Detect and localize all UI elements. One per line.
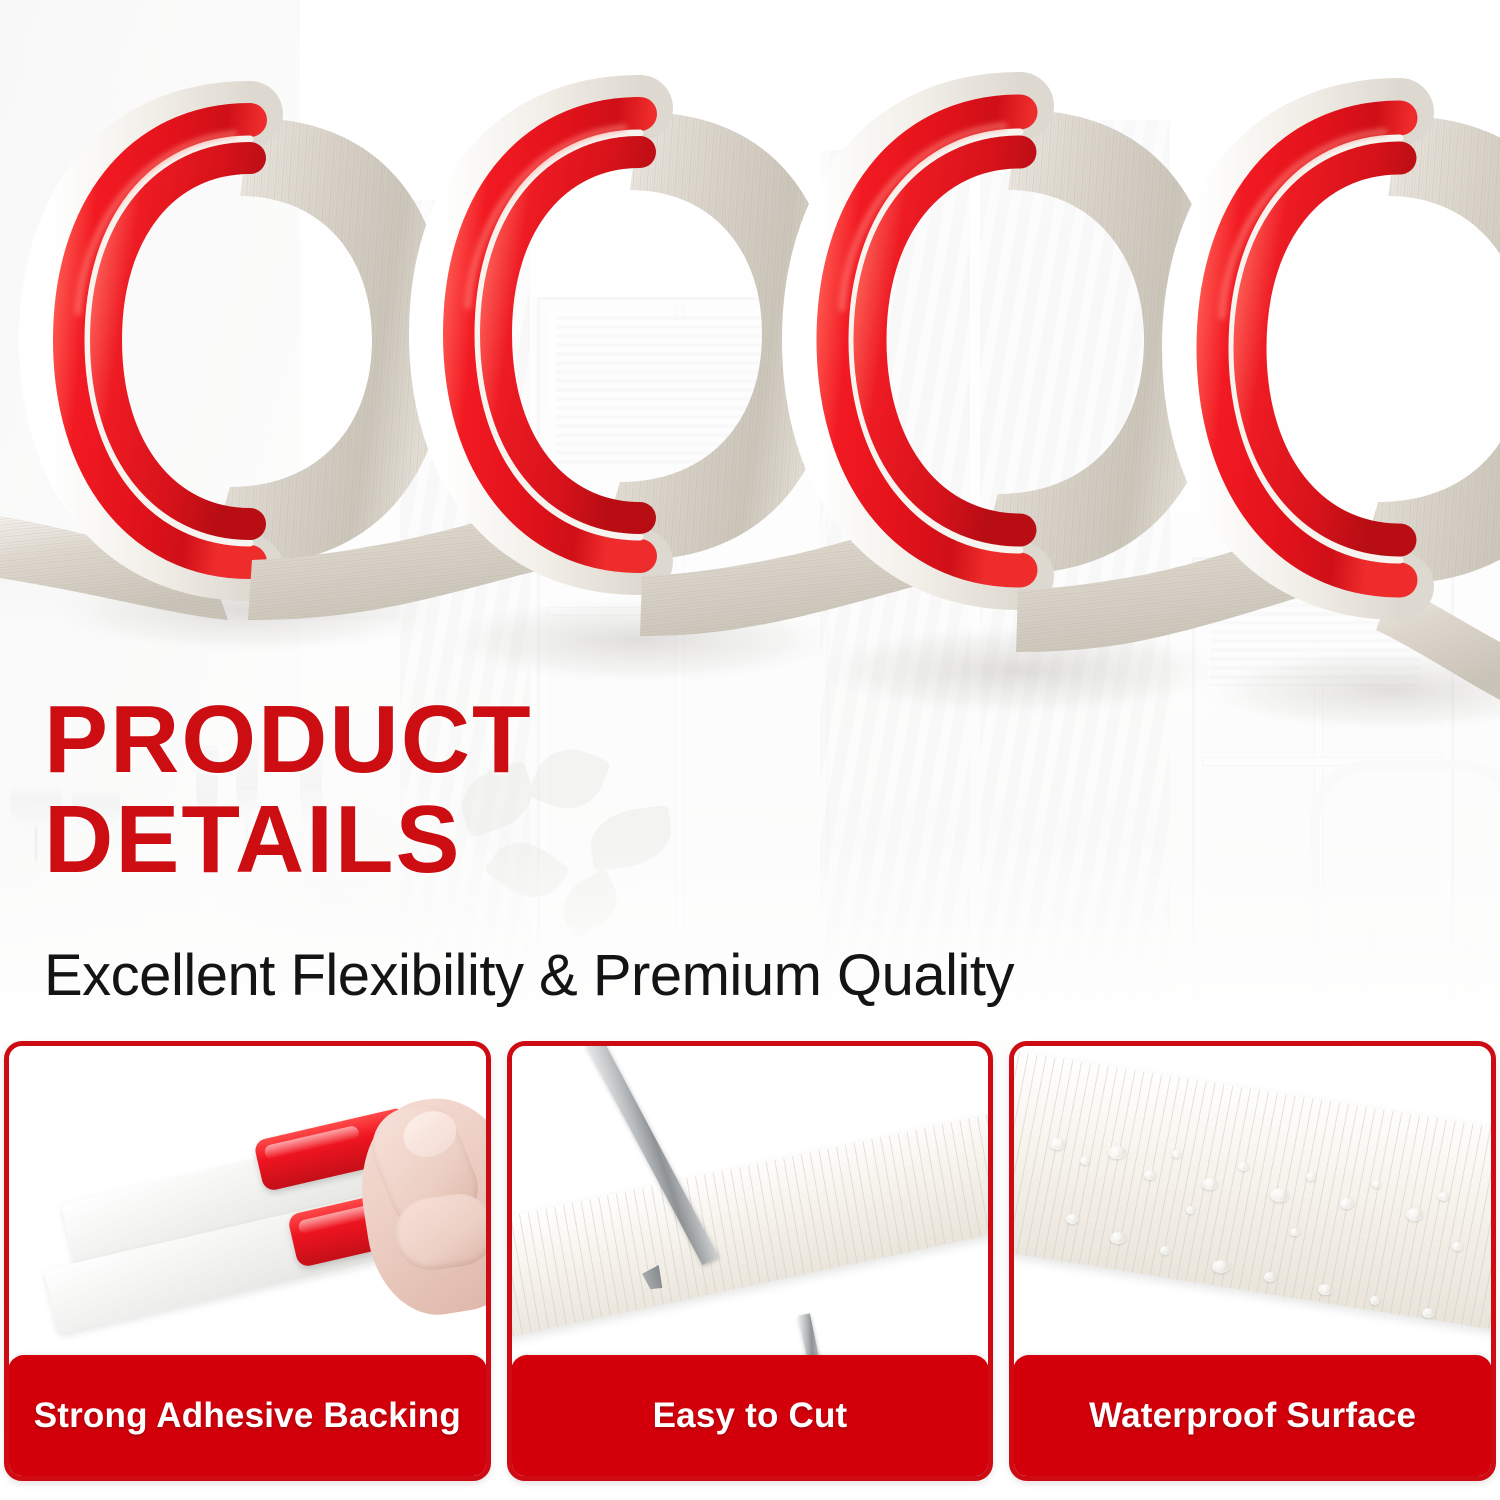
feature-photo-cut <box>512 1046 989 1358</box>
feature-caption-text: Easy to Cut <box>653 1396 848 1436</box>
feature-card-list: Strong Adhesive Backing Easy to Cut <box>0 1041 1500 1481</box>
page-title: PRODUCT DETAILS <box>44 690 1244 890</box>
feature-card-cut[interactable]: Easy to Cut <box>507 1041 994 1481</box>
feature-photo-adhesive <box>9 1046 486 1358</box>
feature-card-waterproof[interactable]: Waterproof Surface <box>1009 1041 1496 1481</box>
feature-caption-bar-adhesive: Strong Adhesive Backing <box>8 1355 487 1477</box>
feature-photo-waterproof <box>1014 1046 1491 1358</box>
coil-illustration <box>0 0 1500 760</box>
feature-caption-bar-waterproof: Waterproof Surface <box>1013 1355 1492 1477</box>
coil-loop-1 <box>0 114 448 620</box>
scissor-blade-lower <box>798 1313 822 1358</box>
product-detail-infographic: PRODUCT DETAILS Excellent Flexibility & … <box>0 0 1500 1500</box>
page-subtitle: Excellent Flexibility & Premium Quality <box>44 940 1014 1012</box>
feature-caption-text: Waterproof Surface <box>1089 1396 1416 1436</box>
banding-strip <box>1014 1046 1491 1337</box>
page-title-line-1: PRODUCT <box>44 690 1244 790</box>
feature-caption-bar-cut: Easy to Cut <box>511 1355 990 1477</box>
hero-edge-banding-coil <box>0 0 1500 760</box>
feature-card-adhesive[interactable]: Strong Adhesive Backing <box>4 1041 491 1481</box>
page-title-line-2: DETAILS <box>44 790 1244 890</box>
banding-strip <box>512 1105 989 1341</box>
feature-caption-text: Strong Adhesive Backing <box>34 1396 461 1436</box>
